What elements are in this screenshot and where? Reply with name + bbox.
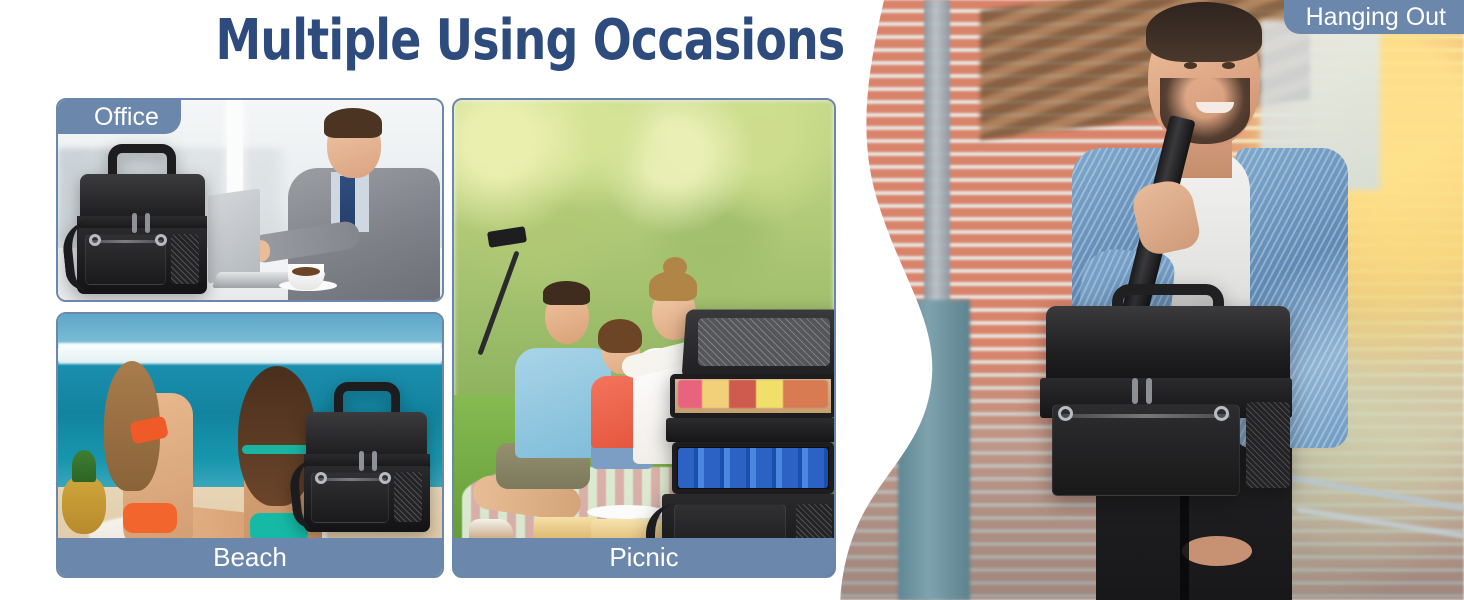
bag-top-compartment bbox=[80, 174, 205, 219]
zipper-pull-left bbox=[1132, 378, 1138, 404]
bag-side-mesh-pocket bbox=[1246, 402, 1290, 488]
bag-side-mesh-pocket bbox=[171, 234, 200, 284]
beach-scene bbox=[58, 314, 442, 576]
lid-mesh-panel bbox=[698, 318, 830, 366]
hero-photo bbox=[840, 0, 1464, 600]
picnic-scene bbox=[454, 100, 834, 576]
hero-image-hanging-out: Hanging Out bbox=[840, 0, 1464, 600]
eye-right bbox=[1222, 62, 1235, 69]
panel-label-beach: Beach bbox=[58, 538, 442, 576]
lunch-bag-icon-open bbox=[662, 308, 836, 576]
father-hair bbox=[543, 281, 590, 305]
pineapple bbox=[62, 476, 106, 534]
girl-hair bbox=[598, 319, 642, 353]
page-title: Multiple Using Occasions bbox=[95, 8, 964, 73]
zipper-pull-right bbox=[145, 213, 150, 233]
panel-office[interactable]: Office bbox=[56, 98, 444, 302]
coffee-cup-icon bbox=[288, 264, 324, 290]
bag-front-zipper bbox=[1062, 414, 1230, 418]
bag-side-mesh-pocket bbox=[394, 472, 422, 522]
zipper-pull-right bbox=[372, 451, 377, 471]
smile bbox=[1196, 102, 1234, 113]
zipper-pull-left bbox=[132, 213, 137, 233]
lunch-bag-icon bbox=[77, 144, 207, 294]
promo-banner: Hanging Out Multiple Using Occasions bbox=[0, 0, 1464, 600]
panel-beach[interactable]: Beach bbox=[56, 312, 444, 578]
eye-left bbox=[1184, 62, 1197, 69]
breaking-wave bbox=[58, 343, 442, 364]
food-inside-upper bbox=[678, 380, 828, 408]
laptop-icon bbox=[208, 188, 260, 283]
businessman-hair bbox=[324, 108, 382, 138]
zipper-pull-left bbox=[359, 451, 364, 471]
lunch-bag-icon bbox=[304, 382, 430, 532]
hero-label-badge: Hanging Out bbox=[1284, 0, 1464, 34]
d-ring-left bbox=[1058, 406, 1073, 421]
bag-top-compartment bbox=[306, 412, 427, 457]
necktie bbox=[340, 176, 355, 228]
mother-hair-bun bbox=[663, 257, 687, 277]
d-ring-right bbox=[1214, 406, 1229, 421]
panel-picnic[interactable]: Picnic bbox=[452, 98, 836, 578]
bag-top-compartment bbox=[1046, 306, 1290, 382]
compartment-divider bbox=[666, 418, 836, 442]
panel-label-office: Office bbox=[58, 100, 181, 134]
zipper-pull-right bbox=[1146, 378, 1152, 404]
woman-1-bikini-bottom bbox=[123, 503, 177, 533]
lunch-bag-icon bbox=[1036, 282, 1296, 502]
soda-cans bbox=[678, 448, 828, 488]
hair bbox=[1146, 2, 1262, 62]
panel-label-picnic: Picnic bbox=[454, 538, 834, 576]
